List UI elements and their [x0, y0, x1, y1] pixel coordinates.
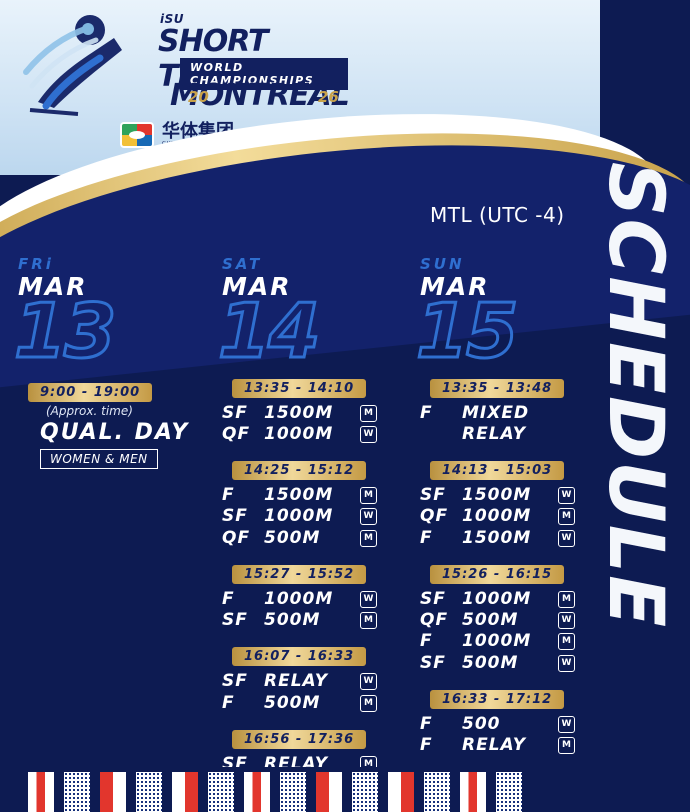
race-rows: SFRELAYWF500MM — [222, 671, 402, 714]
gender-badge: M — [360, 530, 377, 547]
footer-flags — [0, 767, 690, 812]
race-event: MIXED — [462, 403, 558, 424]
race-event: 1000M — [462, 506, 558, 527]
flag-1 — [28, 772, 54, 812]
flag-2 — [64, 772, 90, 812]
race-round: SF — [222, 610, 264, 631]
race-event: 500M — [264, 528, 360, 549]
flag-13 — [460, 772, 486, 812]
session-time: 14:25 - 15:12 — [232, 461, 366, 480]
gender-badge: W — [360, 591, 377, 608]
session-block: 15:27 - 15:52F1000MWSF500MM — [222, 563, 402, 632]
race-round: SF — [420, 589, 462, 610]
day-number-fri: 13 — [14, 301, 198, 363]
race-row: RELAY — [420, 424, 600, 445]
race-round: SF — [222, 506, 264, 527]
race-event: 500M — [462, 653, 558, 674]
day-of-week-fri: FRi — [18, 255, 198, 273]
race-row: FMIXED — [420, 403, 600, 424]
gender-badge: W — [558, 655, 575, 672]
day-number-sat: 14 — [218, 301, 402, 363]
race-row: QF500MM — [222, 528, 402, 549]
race-event: 1000M — [264, 424, 360, 445]
race-round: F — [222, 485, 264, 506]
poster-header: iSU SHORT TRACK WORLD CHAMPIONSHIPS MONT… — [0, 0, 600, 175]
day-column-fri: FRi MAR 13 9:00 - 19:00 (Approx. time) Q… — [18, 255, 198, 469]
race-rows: FMIXEDRELAY — [420, 403, 600, 446]
race-event: 500M — [264, 693, 360, 714]
race-rows: SF1500MMQF1000MW — [222, 403, 402, 446]
day-column-sat: SAT MAR 14 13:35 - 14:10SF1500MMQF1000MW… — [222, 255, 402, 796]
race-round: QF — [420, 610, 462, 631]
gender-badge: M — [558, 737, 575, 754]
race-event: 500M — [264, 610, 360, 631]
race-event: RELAY — [462, 735, 558, 756]
race-rows: SF1500MWQF1000MMF1500MW — [420, 485, 600, 549]
flag-4 — [136, 772, 162, 812]
gender-badge: M — [360, 405, 377, 422]
gender-badge: M — [360, 612, 377, 629]
race-round: SF — [222, 403, 264, 424]
year-prefix: 20 — [188, 88, 209, 106]
day-number-sun: 15 — [416, 301, 600, 363]
flag-5 — [172, 772, 198, 812]
session-time: 15:27 - 15:52 — [232, 565, 366, 584]
race-row: QF500MW — [420, 610, 600, 631]
race-rows: F500WFRELAYM — [420, 714, 600, 757]
flag-9 — [316, 772, 342, 812]
gender-badge: M — [360, 487, 377, 504]
race-round: QF — [222, 424, 264, 445]
race-row: F1500MW — [420, 528, 600, 549]
session-block: 16:33 - 17:12F500WFRELAYM — [420, 688, 600, 757]
cnsg-icon — [120, 122, 154, 148]
session-time: 15:26 - 16:15 — [430, 565, 564, 584]
race-rows: F1000MWSF500MM — [222, 589, 402, 632]
qual-day-tag: WOMEN & MEN — [40, 449, 158, 469]
schedule-vertical-text: SCHEDULE — [593, 161, 682, 628]
session-time: 13:35 - 14:10 — [232, 379, 366, 398]
gender-badge: W — [558, 716, 575, 733]
race-round: SF — [222, 671, 264, 692]
race-row: FRELAYM — [420, 735, 600, 756]
race-round: F — [420, 714, 462, 735]
qual-day-note: (Approx. time) — [46, 404, 198, 418]
gender-badge: W — [558, 487, 575, 504]
race-row: SF1500MW — [420, 485, 600, 506]
session-time: 16:56 - 17:36 — [232, 730, 366, 749]
gender-badge: W — [558, 530, 575, 547]
race-row: SF500MM — [222, 610, 402, 631]
session-time: 13:35 - 13:48 — [430, 379, 564, 398]
day-of-week-sun: SUN — [420, 255, 600, 273]
race-row: SFRELAYW — [222, 671, 402, 692]
flag-6 — [208, 772, 234, 812]
session-block: 16:07 - 16:33SFRELAYWF500MM — [222, 645, 402, 714]
race-event: 500 — [462, 714, 558, 735]
session-time: 14:13 - 15:03 — [430, 461, 564, 480]
race-row: F1000MW — [222, 589, 402, 610]
race-event: 1500M — [462, 528, 558, 549]
race-row: F500W — [420, 714, 600, 735]
race-event: 1500M — [462, 485, 558, 506]
race-row: SF1500MM — [222, 403, 402, 424]
session-block: 13:35 - 13:48FMIXEDRELAY — [420, 377, 600, 446]
skater-icon — [18, 10, 148, 120]
session-list-sat: 13:35 - 14:10SF1500MMQF1000MW14:25 - 15:… — [222, 377, 402, 797]
race-row: F1000MM — [420, 631, 600, 652]
gender-badge: W — [360, 508, 377, 525]
race-round: F — [222, 693, 264, 714]
session-block: 13:35 - 14:10SF1500MMQF1000MW — [222, 377, 402, 446]
race-event: 500M — [462, 610, 558, 631]
race-round: F — [420, 528, 462, 549]
flag-11 — [388, 772, 414, 812]
session-time: 16:33 - 17:12 — [430, 690, 564, 709]
session-block: 15:26 - 16:15SF1000MMQF500MWF1000MMSF500… — [420, 563, 600, 674]
race-row: F500MM — [222, 693, 402, 714]
race-event: RELAY — [462, 424, 558, 445]
day-column-sun: SUN MAR 15 13:35 - 13:48FMIXEDRELAY14:13… — [420, 255, 600, 756]
year-suffix: 26 — [318, 88, 339, 106]
race-round: QF — [420, 506, 462, 527]
race-row: QF1000MM — [420, 506, 600, 527]
schedule-poster: iSU SHORT TRACK WORLD CHAMPIONSHIPS MONT… — [0, 0, 690, 812]
race-event: 1500M — [264, 403, 360, 424]
race-event: 1000M — [462, 589, 558, 610]
race-row: QF1000MW — [222, 424, 402, 445]
gender-badge: M — [558, 633, 575, 650]
race-row: F1500MM — [222, 485, 402, 506]
race-round: F — [420, 403, 462, 424]
race-round: F — [420, 631, 462, 652]
race-round: F — [222, 589, 264, 610]
race-row: SF1000MW — [222, 506, 402, 527]
race-round: F — [420, 735, 462, 756]
qual-day-time: 9:00 - 19:00 — [28, 383, 152, 402]
race-event: 1000M — [264, 589, 360, 610]
session-block: 14:25 - 15:12F1500MMSF1000MWQF500MM — [222, 459, 402, 549]
gender-badge: W — [558, 612, 575, 629]
race-row: SF1000MM — [420, 589, 600, 610]
flag-14 — [496, 772, 522, 812]
timezone-label: MTL (UTC -4) — [430, 203, 565, 227]
flag-10 — [352, 772, 378, 812]
gender-badge: W — [360, 673, 377, 690]
qual-day-title: QUAL. DAY — [40, 420, 198, 445]
event-logo: iSU SHORT TRACK WORLD CHAMPIONSHIPS MONT… — [18, 8, 348, 123]
flag-7 — [244, 772, 270, 812]
race-event: RELAY — [264, 671, 360, 692]
session-block: 14:13 - 15:03SF1500MWQF1000MMF1500MW — [420, 459, 600, 549]
race-row: SF500MW — [420, 653, 600, 674]
race-rows: F1500MMSF1000MWQF500MM — [222, 485, 402, 549]
session-list-sun: 13:35 - 13:48FMIXEDRELAY14:13 - 15:03SF1… — [420, 377, 600, 757]
race-round: SF — [420, 485, 462, 506]
race-round: SF — [420, 653, 462, 674]
day-of-week-sat: SAT — [222, 255, 402, 273]
race-event: 1000M — [264, 506, 360, 527]
flag-8 — [280, 772, 306, 812]
gender-badge: M — [558, 508, 575, 525]
gender-badge: M — [558, 591, 575, 608]
race-event: 1500M — [264, 485, 360, 506]
race-rows: SF1000MMQF500MWF1000MMSF500MW — [420, 589, 600, 674]
session-time: 16:07 - 16:33 — [232, 647, 366, 666]
flag-12 — [424, 772, 450, 812]
qual-day-block: 9:00 - 19:00 (Approx. time) QUAL. DAY WO… — [18, 381, 198, 469]
gender-badge: W — [360, 426, 377, 443]
gender-badge: M — [360, 695, 377, 712]
flag-3 — [100, 772, 126, 812]
race-event: 1000M — [462, 631, 558, 652]
race-round: QF — [222, 528, 264, 549]
